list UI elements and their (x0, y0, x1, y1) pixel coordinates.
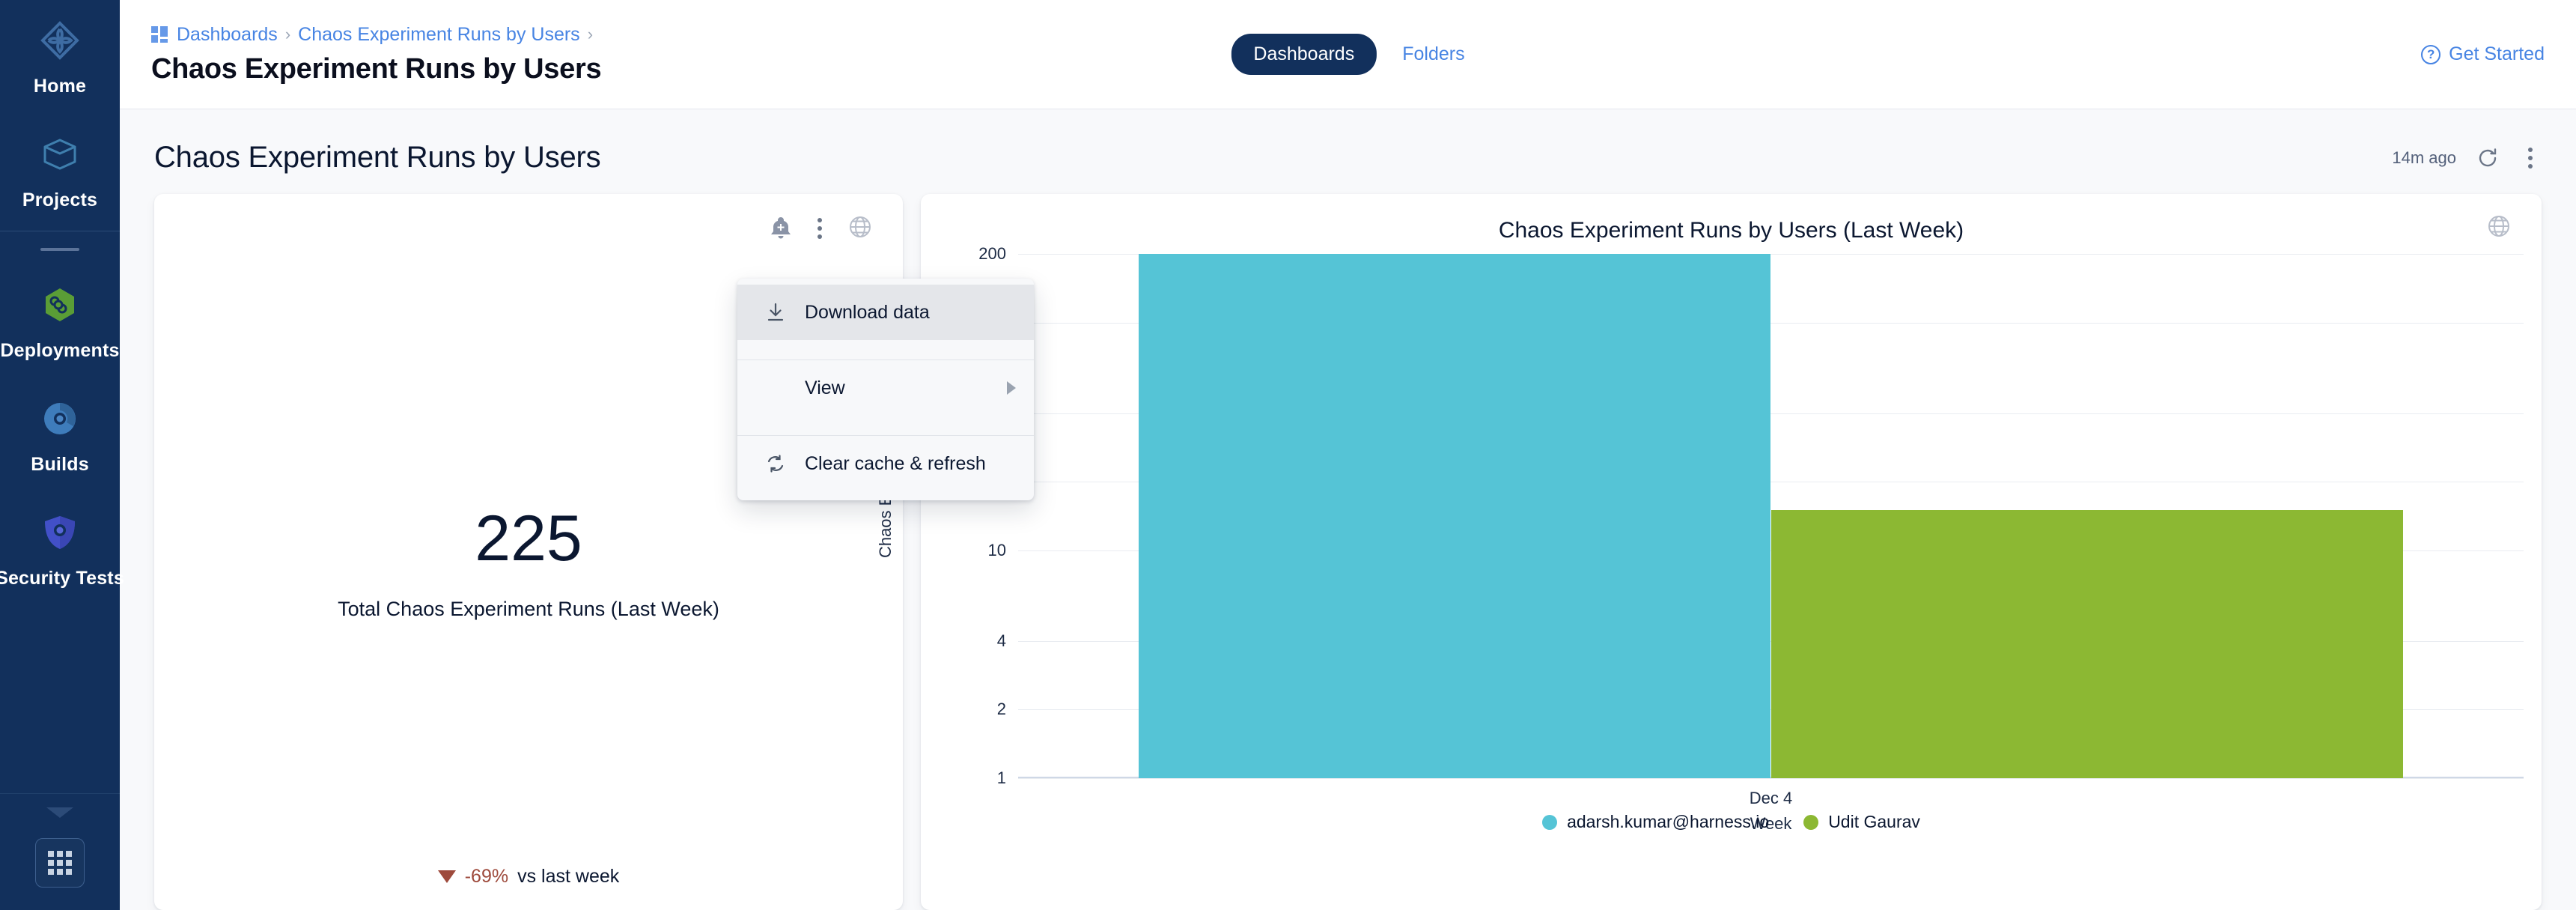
left-sidebar: Home Projects (0, 0, 120, 910)
get-started-button[interactable]: ? Get Started (2421, 43, 2576, 65)
triangle-down-icon (438, 870, 456, 883)
y-axis-tick-label: 1 (997, 768, 1006, 788)
sidebar-item-security-tests[interactable]: Security Tests (0, 492, 120, 606)
breadcrumb: Dashboards › Chaos Experiment Runs by Us… (151, 24, 601, 46)
menu-item-download-data[interactable]: Download data (737, 285, 1034, 340)
sidebar-handle[interactable] (40, 248, 79, 251)
dashboard-header: Chaos Experiment Runs by Users 14m ago (120, 109, 2576, 175)
plot-region: 124102040100200 (1018, 254, 2524, 778)
question-circle-icon: ? (2421, 45, 2440, 64)
kpi-value: 225 (475, 506, 582, 571)
kpi-tile-tools (770, 213, 873, 243)
y-axis-tick-label: 10 (988, 541, 1006, 560)
bar[interactable] (1139, 254, 1771, 778)
chart-tile-tools (2486, 213, 2512, 243)
add-alert-bell-icon[interactable] (770, 216, 792, 241)
menu-item-label: Download data (805, 302, 1016, 324)
menu-item-view[interactable]: View (737, 360, 1034, 416)
y-axis-tick-label: 4 (997, 631, 1006, 651)
chart-title: Chaos Experiment Runs by Users (Last Wee… (921, 194, 2542, 243)
chart-legend: adarsh.kumar@harness.io Udit Gaurav (921, 812, 2542, 832)
menu-spacer (737, 416, 1034, 435)
sidebar-bottom (0, 793, 120, 910)
sidebar-collapse-button[interactable] (0, 793, 120, 838)
box-icon (39, 133, 81, 179)
menu-item-clear-cache-refresh[interactable]: Clear cache & refresh (737, 436, 1034, 491)
dashboard-more-menu-button[interactable] (2519, 143, 2542, 173)
sidebar-item-label: Projects (22, 189, 97, 211)
kpi-tile-kebab-menu-button[interactable] (809, 213, 831, 243)
legend-label: Udit Gaurav (1828, 812, 1920, 832)
gridline (1018, 778, 2524, 779)
y-axis-tick-label: 200 (978, 244, 1006, 264)
legend-color-swatch (1542, 815, 1557, 830)
sidebar-item-builds[interactable]: Builds (0, 378, 120, 492)
sidebar-item-projects[interactable]: Projects (0, 114, 120, 228)
legend-label: adarsh.kumar@harness.io (1567, 812, 1769, 832)
menu-item-label: View (805, 377, 990, 399)
last-refreshed-label: 14m ago (2392, 148, 2456, 168)
tab-dashboards[interactable]: Dashboards (1231, 34, 1377, 75)
globe-icon[interactable] (2486, 213, 2512, 243)
kpi-caption: Total Chaos Experiment Runs (Last Week) (338, 598, 719, 621)
chart-area: Chaos Experi 124102040100200 Dec 4Week a… (921, 254, 2542, 846)
dashboards-grid-icon (151, 26, 168, 43)
tile-context-menu: Download data View Clear cache & refresh (737, 279, 1034, 500)
sidebar-item-label: Deployments (0, 340, 119, 362)
sidebar-item-label: Security Tests (0, 568, 124, 589)
bar[interactable] (1771, 510, 2404, 778)
kpi-delta-value: -69% (465, 866, 508, 888)
dashboard-header-actions: 14m ago (2392, 143, 2542, 173)
tiles-row: 225 Total Chaos Experiment Runs (Last We… (120, 175, 2576, 910)
harness-diamond-icon (39, 19, 81, 65)
sidebar-item-label: Builds (31, 454, 89, 476)
builds-circle-icon (39, 398, 81, 443)
refresh-icon[interactable] (2476, 146, 2500, 170)
sidebar-item-label: Home (34, 76, 86, 97)
top-bar: Dashboards › Chaos Experiment Runs by Us… (120, 0, 2576, 109)
kpi-delta-suffix: vs last week (517, 866, 619, 888)
legend-item[interactable]: Udit Gaurav (1803, 812, 1920, 832)
topbar-left: Dashboards › Chaos Experiment Runs by Us… (120, 24, 601, 85)
menu-item-label: Clear cache & refresh (805, 453, 1016, 475)
get-started-label: Get Started (2449, 43, 2545, 65)
tab-folders[interactable]: Folders (1402, 43, 1464, 65)
x-axis-tick-label: Dec 4 (1018, 789, 2524, 808)
dashboard-title: Chaos Experiment Runs by Users (154, 141, 600, 175)
legend-item[interactable]: adarsh.kumar@harness.io (1542, 812, 1769, 832)
sidebar-item-deployments[interactable]: Deployments (0, 264, 120, 378)
app-root: Home Projects (0, 0, 2576, 910)
kpi-delta: -69% vs last week (154, 866, 903, 888)
grid-apps-icon (48, 851, 72, 875)
apps-launcher-button[interactable] (35, 838, 85, 888)
bars-layer (1018, 254, 2524, 778)
breadcrumb-item-dashboards[interactable]: Dashboards (177, 24, 278, 46)
refresh-cycle-icon (763, 453, 788, 474)
chevron-right-icon (1007, 381, 1016, 395)
topbar-tabs: Dashboards Folders (1231, 34, 1464, 75)
y-axis-tick-label: 2 (997, 700, 1006, 719)
chart-tile: Chaos Experiment Runs by Users (Last Wee… (921, 194, 2542, 910)
infinity-hex-icon (39, 284, 81, 330)
sidebar-divider (0, 231, 120, 231)
chevron-down-icon (43, 804, 76, 825)
menu-spacer (737, 340, 1034, 360)
legend-color-swatch (1803, 815, 1818, 830)
globe-icon[interactable] (847, 214, 873, 243)
breadcrumb-separator-trailing: › (588, 25, 593, 44)
breadcrumb-item-current[interactable]: Chaos Experiment Runs by Users (298, 24, 580, 46)
breadcrumb-separator: › (285, 25, 290, 44)
sidebar-item-home[interactable]: Home (0, 0, 120, 114)
page-title: Chaos Experiment Runs by Users (151, 53, 601, 85)
shield-icon (39, 512, 81, 557)
download-icon (763, 302, 788, 323)
main-area: Dashboards › Chaos Experiment Runs by Us… (120, 0, 2576, 910)
